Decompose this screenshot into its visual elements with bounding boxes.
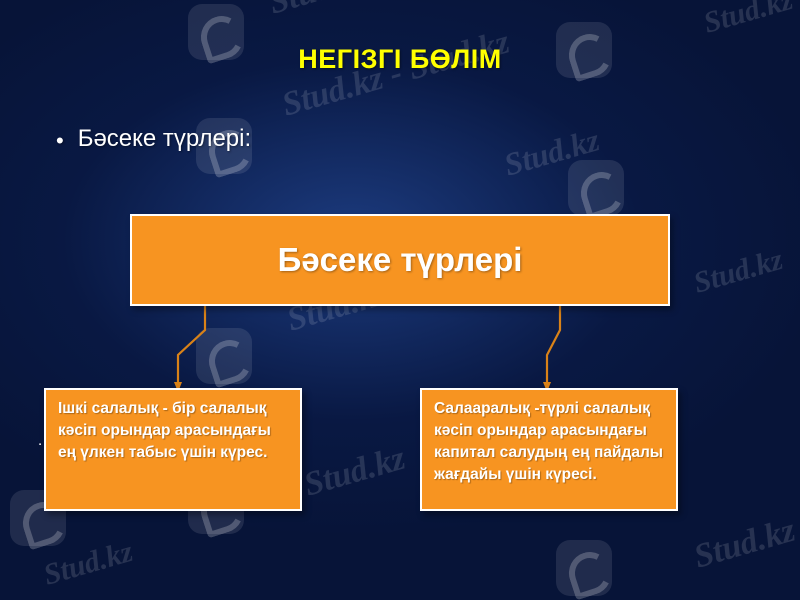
diagram-root-node: Бәсеке түрлері <box>130 214 670 306</box>
diagram-child-node-left: Ішкі салалық - бір салалық кәсіп орындар… <box>44 388 302 511</box>
slide: Stud.kzStud.kzStud.kz - Stud.kzStud.kzSt… <box>0 0 800 600</box>
page-title: НЕГІЗГІ БӨЛІМ <box>0 44 800 75</box>
watermark-text: Stud.kz <box>700 0 797 41</box>
watermark-text: Stud.kz <box>300 440 409 505</box>
watermark-text: Stud.kz <box>690 512 799 577</box>
stray-text-marker: . <box>38 432 42 449</box>
watermark-logo-icon <box>568 160 624 216</box>
watermark-text: Stud.kz <box>40 535 137 593</box>
diagram-root-label: Бәсеке түрлері <box>278 241 523 279</box>
diagram-child-label-left: Ішкі салалық - бір салалық кәсіп орындар… <box>58 400 271 461</box>
watermark-logo-icon <box>196 328 252 384</box>
watermark-text: Stud.kz <box>500 121 603 183</box>
watermark-text: Stud.kz <box>690 243 787 301</box>
bullet-item: • Бәсеке түрлері: <box>56 125 251 153</box>
watermark-logo-icon <box>556 540 612 596</box>
diagram-child-label-right: Салааралық -түрлі салалық кәсіп орындар … <box>434 400 663 483</box>
watermark-text: Stud.kz <box>265 0 374 23</box>
bullet-label: Бәсеке түрлері: <box>78 125 251 153</box>
diagram-child-node-right: Салааралық -түрлі салалық кәсіп орындар … <box>420 388 678 511</box>
bullet-marker-icon: • <box>56 130 64 152</box>
